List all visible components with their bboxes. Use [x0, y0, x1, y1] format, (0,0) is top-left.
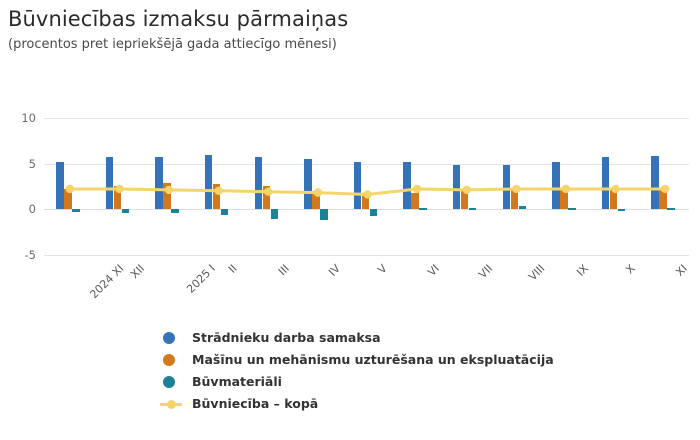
y-axis-tick-label: 0: [4, 203, 36, 215]
bar-0-1: [106, 157, 114, 209]
bar-2-10: [568, 208, 576, 210]
legend-line-icon: [160, 397, 186, 411]
chart-container: Būvniecības izmaksu pārmaiņas (procentos…: [0, 0, 700, 440]
legend-swatch: [163, 332, 175, 344]
legend-swatch: [163, 354, 175, 366]
legend-swatch: [163, 376, 175, 388]
bar-0-10: [552, 162, 560, 209]
bar-1-2: [163, 183, 171, 209]
bar-0-8: [453, 165, 461, 209]
bar-1-4: [263, 186, 271, 209]
legend-item[interactable]: Strādnieku darba samaksa: [160, 328, 554, 347]
bar-0-7: [403, 162, 411, 209]
x-axis-tick-label: IV: [326, 262, 343, 279]
bar-1-9: [511, 189, 519, 209]
bar-0-3: [205, 155, 213, 209]
x-axis-tick-label: 2025 I: [184, 262, 218, 296]
x-axis-tick-label: IX: [574, 262, 591, 279]
gridline-5: [44, 164, 689, 165]
x-axis-tick-label: 2024 XI: [87, 262, 126, 301]
legend-item[interactable]: Būvmateriāli: [160, 372, 554, 391]
bar-0-9: [503, 165, 511, 209]
bar-0-6: [354, 162, 362, 209]
bar-1-0: [64, 189, 72, 209]
legend-dot-icon: [160, 375, 186, 389]
bar-0-5: [304, 159, 312, 209]
legend-item-label: Mašīnu un mehānismu uzturēšana un eksplu…: [192, 352, 554, 367]
legend-line-marker: [167, 400, 176, 409]
bar-0-0: [56, 162, 64, 209]
bar-1-6: [362, 194, 370, 209]
legend-item[interactable]: Mašīnu un mehānismu uzturēšana un eksplu…: [160, 350, 554, 369]
bar-1-7: [411, 193, 419, 209]
bar-2-6: [370, 209, 378, 216]
legend-dot-icon: [160, 331, 186, 345]
x-axis-tick-label: VI: [425, 262, 442, 279]
bar-1-11: [610, 188, 618, 209]
bar-1-12: [659, 188, 667, 209]
gridline-10: [44, 118, 689, 119]
x-axis-tick-label: II: [226, 262, 240, 276]
x-axis-tick-label: XII: [129, 262, 148, 281]
bar-2-4: [271, 209, 279, 219]
bar-0-4: [255, 157, 263, 209]
legend-item-label: Būvmateriāli: [192, 374, 282, 389]
bar-2-7: [419, 208, 427, 210]
bar-2-5: [320, 209, 328, 220]
legend-item-label: Strādnieku darba samaksa: [192, 330, 381, 345]
bar-2-8: [469, 208, 477, 210]
bar-1-8: [461, 191, 469, 209]
y-axis-tick-label: 5: [4, 158, 36, 170]
legend-item[interactable]: Būvniecība – kopā: [160, 394, 554, 413]
y-axis-tick-label: 10: [4, 112, 36, 124]
y-axis-tick-label: -5: [4, 249, 36, 261]
bar-2-9: [519, 206, 527, 209]
bar-2-11: [618, 209, 626, 211]
x-axis-tick-label: III: [276, 262, 292, 278]
x-axis-tick-label: V: [375, 262, 390, 277]
bar-1-1: [114, 186, 122, 209]
legend-item-label: Būvniecība – kopā: [192, 396, 318, 411]
bar-2-12: [667, 208, 675, 210]
gridline-0: [44, 209, 689, 210]
bar-0-11: [602, 157, 610, 209]
bar-1-3: [213, 184, 221, 209]
bar-2-3: [221, 209, 229, 215]
x-axis-tick-label: VII: [476, 262, 495, 281]
x-axis-tick-label: VIII: [526, 262, 547, 283]
bar-1-10: [560, 189, 568, 209]
chart-legend: Strādnieku darba samaksaMašīnu un mehāni…: [160, 328, 554, 416]
x-axis-tick-label: X: [623, 262, 638, 277]
bar-2-0: [72, 209, 80, 212]
gridline--5: [44, 255, 689, 256]
bar-0-12: [651, 156, 659, 209]
legend-dot-icon: [160, 353, 186, 367]
x-axis-tick-label: XI: [673, 262, 690, 279]
bar-2-1: [122, 209, 130, 213]
bar-2-2: [171, 209, 179, 213]
bar-1-5: [312, 193, 320, 209]
bar-0-2: [155, 157, 163, 209]
